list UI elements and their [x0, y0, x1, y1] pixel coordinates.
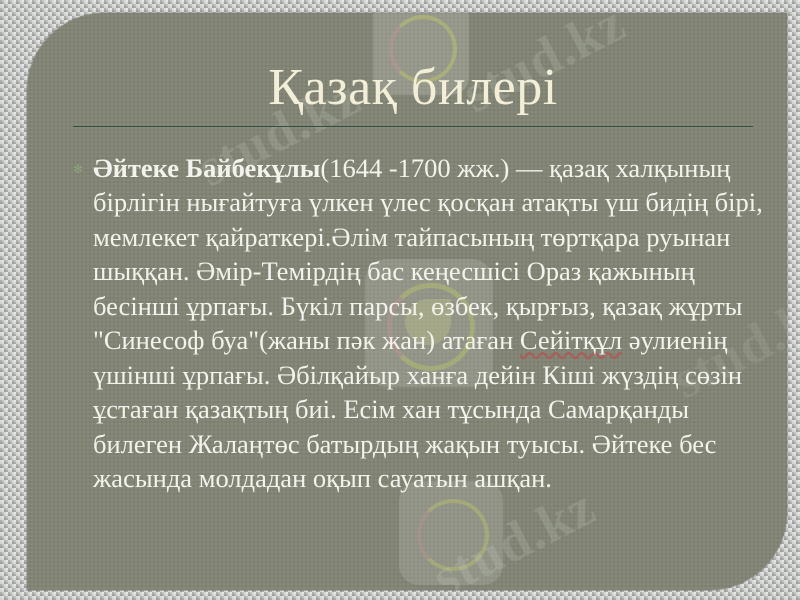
slide-canvas: stud.kz stud.kz stud.kz stud.kz Қазақ би…	[0, 0, 800, 600]
slide-title-block: Қазақ билері	[73, 61, 753, 127]
misspelled-word: Сейітқұл	[520, 325, 622, 355]
title-divider	[73, 126, 753, 127]
slide-body-block: ✻ Әйтеке Байбекұлы(1644 -1700 жж.) — қаз…	[73, 151, 773, 495]
lead-name-text: Әйтеке Байбекұлы	[93, 153, 320, 183]
watermark-logo-bottom-icon	[399, 481, 503, 585]
page-title: Қазақ билері	[73, 61, 753, 116]
slide-content-panel: stud.kz stud.kz stud.kz stud.kz Қазақ би…	[27, 13, 787, 590]
body-paragraph: Әйтеке Байбекұлы(1644 -1700 жж.) — қазақ…	[93, 151, 773, 495]
bullet-marker-icon: ✻	[73, 163, 85, 175]
